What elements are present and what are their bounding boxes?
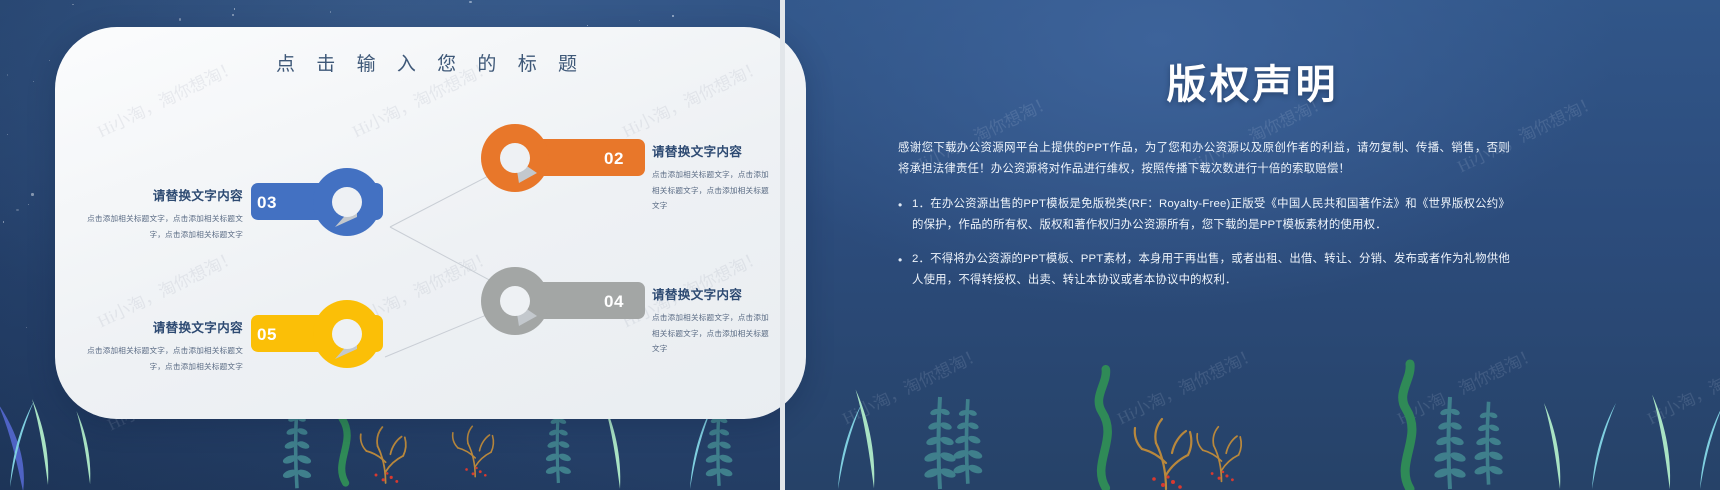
node-05-heading: 请替换文字内容 bbox=[83, 317, 243, 336]
node-02-heading: 请替换文字内容 bbox=[652, 141, 776, 160]
node-03-number: 03 bbox=[257, 193, 277, 213]
node-03-ring-hole bbox=[332, 187, 362, 217]
node-04-text: 请替换文字内容 点击添加相关标题文字，点击添加相关标题文字，点击添加相关标题文字 bbox=[652, 284, 776, 357]
node-04-body: 点击添加相关标题文字，点击添加相关标题文字，点击添加相关标题文字 bbox=[652, 310, 776, 357]
node-03-body: 点击添加相关标题文字，点击添加相关标题文字，点击添加相关标题文字 bbox=[83, 211, 243, 242]
slide-canvas: 点 击 输 入 您 的 标 题 Hi小淘，淘你想淘！ Hi小淘，淘你想淘！ Hi… bbox=[0, 0, 1720, 490]
node-04-number: 04 bbox=[604, 292, 624, 312]
node-05-text: 请替换文字内容 点击添加相关标题文字，点击添加相关标题文字，点击添加相关标题文字 bbox=[83, 317, 243, 374]
node-03-text: 请替换文字内容 点击添加相关标题文字，点击添加相关标题文字，点击添加相关标题文字 bbox=[83, 185, 243, 242]
node-05-number: 05 bbox=[257, 325, 277, 345]
slide-divider bbox=[780, 0, 785, 490]
copyright-clause-1: • 1．在办公资源出售的PPT模板是免版税类(RF：Royalty-Free)正… bbox=[898, 194, 1510, 236]
copyright-clause-2-text: 2．不得将办公资源的PPT模板、PPT素材，本身用于再出售，或者出租、出借、转让… bbox=[912, 249, 1510, 291]
bullet-icon: • bbox=[898, 194, 912, 236]
node-04-ring-hole bbox=[500, 286, 530, 316]
node-03-heading: 请替换文字内容 bbox=[83, 185, 243, 204]
node-04-heading: 请替换文字内容 bbox=[652, 284, 776, 303]
content-card: 点 击 输 入 您 的 标 题 Hi小淘，淘你想淘！ Hi小淘，淘你想淘！ Hi… bbox=[55, 27, 806, 419]
bullet-icon: • bbox=[898, 249, 912, 291]
node-05-ring-hole bbox=[332, 319, 362, 349]
key-diagram: 02 请替换文字内容 点击添加相关标题文字，点击添加相关标题文字，点击添加相关标… bbox=[55, 27, 806, 419]
node-05-body: 点击添加相关标题文字，点击添加相关标题文字，点击添加相关标题文字 bbox=[83, 343, 243, 374]
copyright-clause-1-text: 1．在办公资源出售的PPT模板是免版税类(RF：Royalty-Free)正版受… bbox=[912, 194, 1510, 236]
copyright-body: 感谢您下载办公资源网平台上提供的PPT作品，为了您和办公资源以及原创作者的利益，… bbox=[898, 138, 1510, 304]
node-02-ring-hole bbox=[500, 143, 530, 173]
node-02-body: 点击添加相关标题文字，点击添加相关标题文字，点击添加相关标题文字 bbox=[652, 167, 776, 214]
copyright-clause-2: • 2．不得将办公资源的PPT模板、PPT素材，本身用于再出售，或者出租、出借、… bbox=[898, 249, 1510, 291]
node-02-text: 请替换文字内容 点击添加相关标题文字，点击添加相关标题文字，点击添加相关标题文字 bbox=[652, 141, 776, 214]
copyright-title: 版权声明 bbox=[785, 52, 1720, 110]
node-02-number: 02 bbox=[604, 149, 624, 169]
copyright-intro: 感谢您下载办公资源网平台上提供的PPT作品，为了您和办公资源以及原创作者的利益，… bbox=[898, 138, 1510, 180]
